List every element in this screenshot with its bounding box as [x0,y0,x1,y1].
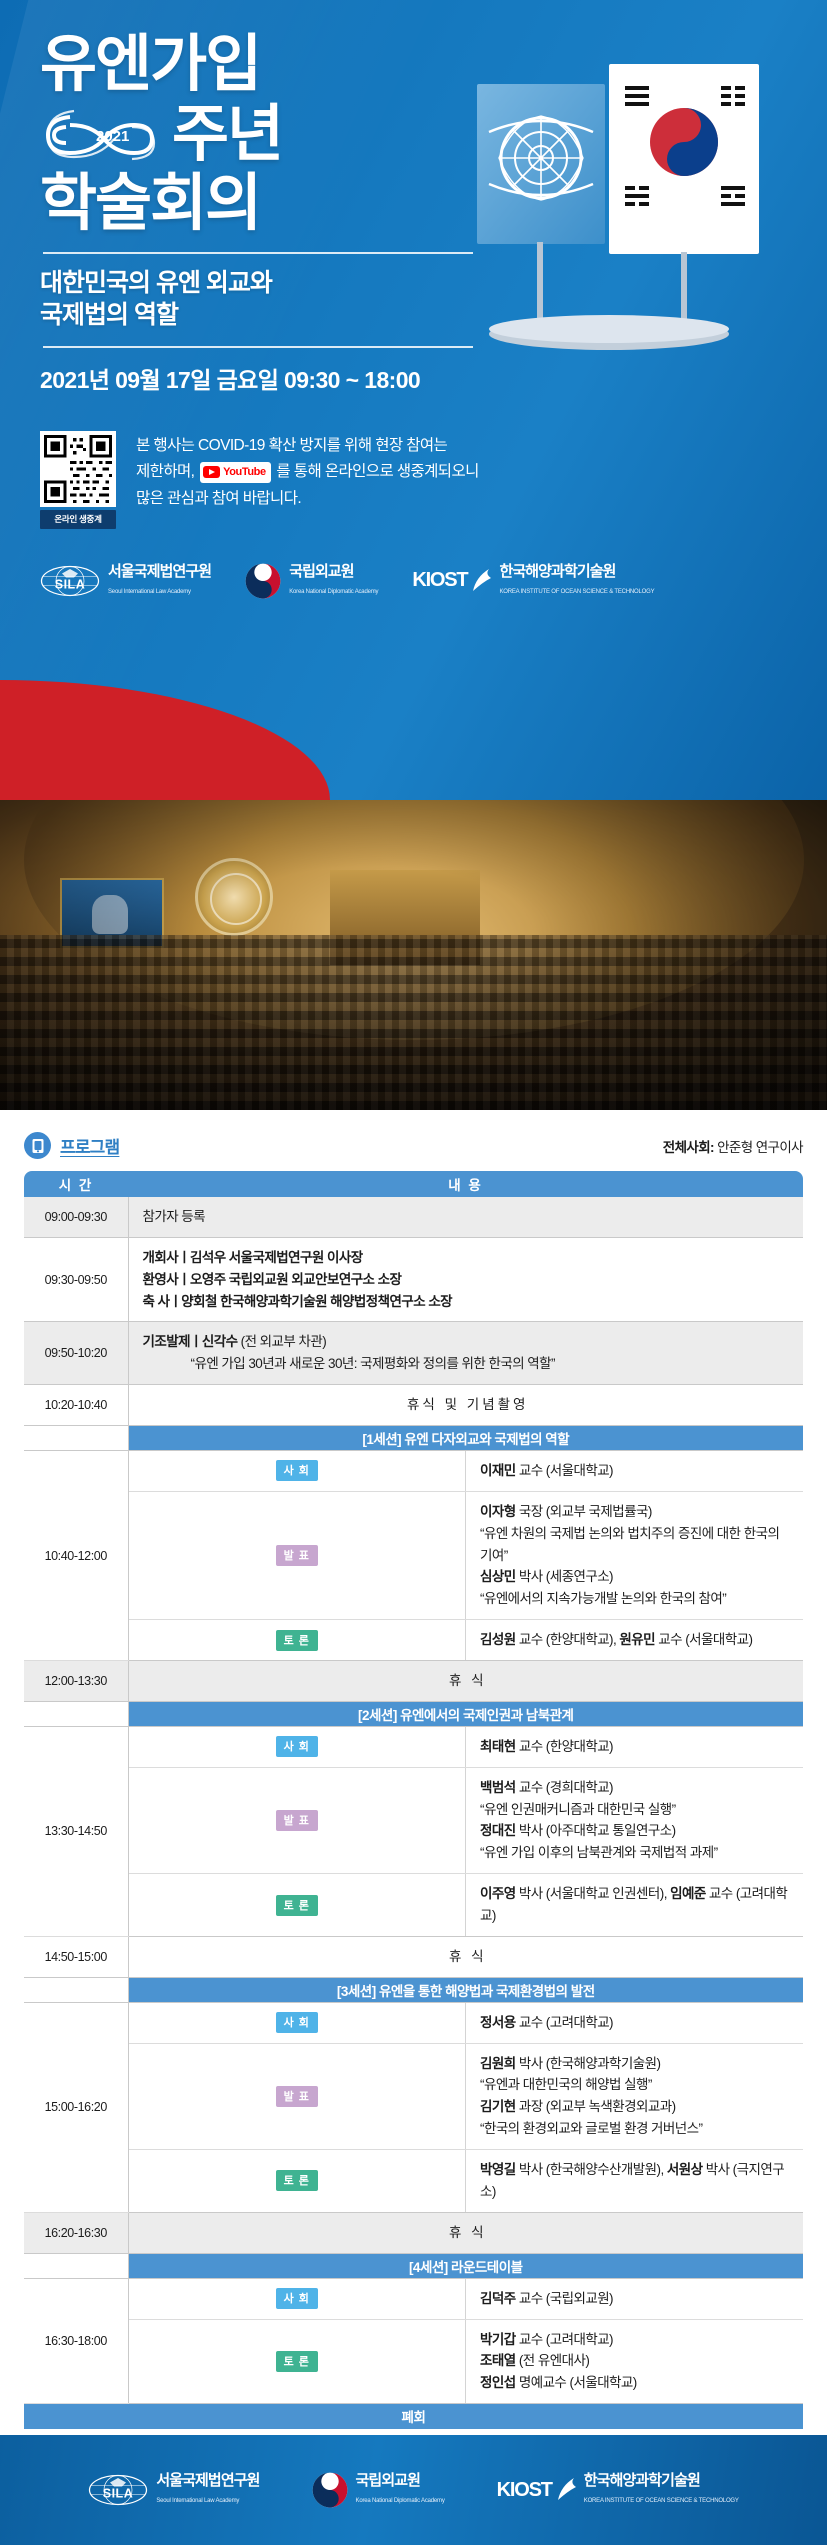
footer-org-knda-names: 국립외교원 Korea National Diplomatic Academy [356,2473,445,2507]
footer-org-knda: 국립외교원 Korea National Diplomatic Academy [312,2472,445,2508]
poster-subtitle-line-2: 국제법의 역할 [40,299,520,332]
participant-name: 조태열 [480,2353,516,2368]
session-detail-row: 16:30-18:00사 회김덕주 교수 (국립외교원) [24,2278,803,2319]
program-row: 09:30-09:50개회사ㅣ김석우 서울국제법연구원 이사장환영사ㅣ오영주 국… [24,1237,803,1322]
role-badge: 사 회 [276,1736,318,1757]
session-detail-row: 15:00-16:20사 회정서용 교수 (고려대학교) [24,2002,803,2043]
remark-line: 축 사ㅣ양회철 한국해양과학기술원 해양법정책연구소 소장 [143,1291,794,1313]
role-badge-cell: 토 론 [128,1620,466,1661]
participant-line: 정인섭 명예교수 (서울대학교) [480,2372,793,2394]
org-sila-name-en: Seoul International Law Academy [108,589,191,595]
notice-line-2-post: 를 통해 온라인으로 생중계되오니 [276,463,478,480]
row-time: 13:30-14:50 [24,1726,128,1936]
break-label: 휴 식 [128,2212,803,2253]
session-participants: 김성원 교수 (한양대학교), 원유민 교수 (서울대학교) [466,1620,804,1661]
keynote-speaker-title: (전 외교부 차관) [237,1334,326,1349]
footer-org-sila-names: 서울국제법연구원 Seoul International Law Academy [156,2473,259,2507]
remark-line: 환영사ㅣ오영주 국립외교원 외교안보연구소 소장 [143,1269,794,1291]
sila-globe-icon: SILA [88,2473,148,2507]
role-badge-cell: 사 회 [128,1726,466,1767]
participant-line: 최태현 교수 (한양대학교) [480,1736,793,1758]
remark-role: 환영사ㅣ오영주 국립외교원 외교안보연구소 소장 [143,1272,402,1287]
program-row: 09:50-10:20기조발제ㅣ신각수 (전 외교부 차관)“유엔 가입 30년… [24,1322,803,1385]
photo-vignette [0,800,827,1110]
participant-name: 박기갑 [480,2332,516,2347]
row-time: 10:20-10:40 [24,1385,128,1426]
participant-affiliation: 박사 (서울대학교 인권센터), [516,1886,670,1901]
keynote-title: “유엔 가입 30년과 새로운 30년: 국제평화와 정의를 위한 한국의 역할… [143,1353,794,1375]
hero-organizer-logos: SILA 서울국제법연구원 Seoul International Law Ac… [40,563,520,599]
youtube-icon[interactable]: YouTube [200,462,271,483]
row-time: 09:50-10:20 [24,1322,128,1385]
program-table: 시 간 내 용 09:00-09:30참가자 등록09:30-09:50개회사ㅣ… [24,1171,803,2429]
participant-line: 이주영 박사 (서울대학교 인권센터), 임예준 교수 (고려대학교) [480,1883,793,1927]
org-sila: SILA 서울국제법연구원 Seoul International Law Ac… [40,564,211,598]
session-header-row: [1세션] 유엔 다자외교와 국제법의 역할 [24,1426,803,1451]
participant-name: 이재민 [480,1463,516,1478]
role-badge: 사 회 [276,2288,318,2309]
session-participants: 김원희 박사 (한국해양과학기술원)“유엔과 대한민국의 해양법 실행”김기현 … [466,2043,804,2149]
remark-role: 개회사ㅣ김석우 서울국제법연구원 이사장 [143,1250,363,1265]
org-knda-name-en: Korea National Diplomatic Academy [289,589,378,595]
row-time: 16:30-18:00 [24,2278,128,2403]
session-header-spacer [24,1701,128,1726]
role-badge-cell: 발 표 [128,1491,466,1619]
closing-row: 폐회 [24,2404,803,2429]
session-detail-row: 발 표백범석 교수 (경희대학교)“유엔 인권매커니즘과 대한민국 실행”정대진… [24,1767,803,1873]
org-knda-names: 국립외교원 Korea National Diplomatic Academy [289,564,378,598]
org-sila-names: 서울국제법연구원 Seoul International Law Academy [108,564,211,598]
session-header-row: [3세션] 유엔을 통한 해양법과 국제환경법의 발전 [24,1977,803,2002]
participant-name: 김기현 [480,2099,516,2114]
participant-name: 박영길 [480,2162,516,2177]
participant-name: 심상민 [480,1569,516,1584]
participant-name: 원유민 [619,1632,655,1647]
org-kiost-names: 한국해양과학기술원 KOREA INSTITUTE OF OCEAN SCIEN… [499,564,654,598]
program-row: 12:00-13:30휴 식 [24,1661,803,1702]
participant-affiliation: 교수 (서울대학교) [516,1463,613,1478]
role-badge-cell: 사 회 [128,1451,466,1492]
participant-name: 이주영 [480,1886,516,1901]
participant-name: 백범석 [480,1780,516,1795]
notice-line-2: 제한하며, YouTube 를 통해 온라인으로 생중계되오니 [136,459,479,486]
row-content: 참가자 등록 [128,1197,803,1237]
session-header-title: [1세션] 유엔 다자외교와 국제법의 역할 [128,1426,803,1451]
role-badge-cell: 발 표 [128,1767,466,1873]
participant-name: 정서용 [480,2015,516,2030]
org-kiost-name-en: KOREA INSTITUTE OF OCEAN SCIENCE & TECHN… [499,589,654,595]
row-time: 09:30-09:50 [24,1237,128,1322]
conference-poster: 유엔가입 2021 주년 [0,0,827,2545]
youtube-play-icon [203,466,220,478]
poster-title-line-2: 주년 [172,104,282,165]
role-badge: 토 론 [276,1630,318,1651]
program-table-body: 09:00-09:30참가자 등록09:30-09:50개회사ㅣ김석우 서울국제… [24,1197,803,2429]
org-kiost-name-ko: 한국해양과학기술원 [499,563,615,580]
anniversary-year: 2021 [96,128,129,145]
role-badge: 발 표 [276,1545,318,1566]
session-header-spacer [24,2253,128,2278]
participant-affiliation: 과장 (외교부 녹색환경외교과) [516,2099,676,2114]
taegeuk-icon [245,563,281,599]
session-detail-row: 토 론박영길 박사 (한국해양수산개발원), 서원상 박사 (극지연구소) [24,2150,803,2213]
participant-name: 서원상 [667,2162,703,2177]
program-row: 10:20-10:40휴식 및 기념촬영 [24,1385,803,1426]
kiost-wordmark: KIOST [412,569,467,592]
session-participants: 이재민 교수 (서울대학교) [466,1451,804,1492]
notice-line-2-pre: 제한하며, [136,463,194,480]
row-time: 12:00-13:30 [24,1661,128,1702]
role-badge: 발 표 [276,1810,318,1831]
participant-line: 김덕주 교수 (국립외교원) [480,2288,793,2310]
poster-title-line-2-row: 2021 주년 [40,97,520,171]
org-kiost: KIOST 한국해양과학기술원 KOREA INSTITUTE OF OCEAN… [412,564,654,598]
participant-name: 이자형 [480,1504,516,1519]
presentation-title: “유엔 인권매커니즘과 대한민국 실행” [480,1799,793,1821]
session-detail-row: 10:40-12:00사 회이재민 교수 (서울대학교) [24,1451,803,1492]
overall-moderator-label: 전체사회 [663,1140,710,1155]
participant-name: 김원희 [480,2056,516,2071]
footer-org-kiost-names: 한국해양과학기술원 KOREA INSTITUTE OF OCEAN SCIEN… [584,2473,739,2507]
role-badge: 사 회 [276,1460,318,1481]
program-section: 프로그램 전체사회: 안준형 연구이사 시 간 내 용 09:00-09:30참… [0,1110,827,2460]
session-participants: 김덕주 교수 (국립외교원) [466,2278,804,2319]
break-label: 휴 식 [128,1936,803,1977]
session-header-row: [4세션] 라운드테이블 [24,2253,803,2278]
participant-name: 정인섭 [480,2375,516,2390]
footer-org-sila-name-ko: 서울국제법연구원 [156,2472,259,2489]
session-detail-row: 토 론이주영 박사 (서울대학교 인권센터), 임예준 교수 (고려대학교) [24,1874,803,1937]
session-participants: 백범석 교수 (경희대학교)“유엔 인권매커니즘과 대한민국 실행”정대진 박사… [466,1767,804,1873]
session-participants: 이자형 국장 (외교부 국제법률국)“유엔 차원의 국제법 논의와 법치주의 증… [466,1491,804,1619]
break-label: 휴 식 [128,1661,803,1702]
participant-line: 박영길 박사 (한국해양수산개발원), 서원상 박사 (극지연구소) [480,2159,793,2203]
session-participants: 이주영 박사 (서울대학교 인권센터), 임예준 교수 (고려대학교) [466,1874,804,1937]
participant-affiliation: 박사 (한국해양수산개발원), [516,2162,667,2177]
role-badge-cell: 사 회 [128,2002,466,2043]
role-badge: 사 회 [276,2012,318,2033]
participant-name: 임예준 [670,1886,706,1901]
org-sila-name-ko: 서울국제법연구원 [108,563,211,580]
participant-affiliation: 교수 (경희대학교) [516,1780,613,1795]
role-badge-cell: 발 표 [128,2043,466,2149]
session-detail-row: 토 론김성원 교수 (한양대학교), 원유민 교수 (서울대학교) [24,1620,803,1661]
presentation-title: “유엔과 대한민국의 해양법 실행” [480,2074,793,2096]
row-time: 10:40-12:00 [24,1451,128,1661]
session-header-spacer [24,1977,128,2002]
participant-affiliation: 국장 (외교부 국제법률국) [516,1504,652,1519]
participant-line: 이자형 국장 (외교부 국제법률국) [480,1501,793,1523]
event-datetime: 2021년 09월 17일 금요일 09:30 ~ 18:00 [40,361,520,395]
footer-org-kiost-name-en: KOREA INSTITUTE OF OCEAN SCIENCE & TECHN… [584,2498,739,2504]
participant-affiliation: (전 유엔대사) [516,2353,590,2368]
footer-org-knda-name-en: Korea National Diplomatic Academy [356,2498,445,2504]
participant-line: 정대진 박사 (아주대학교 통일연구소) [480,1820,793,1842]
col-header-time: 시 간 [24,1171,128,1197]
overall-moderator-value: 안준형 연구이사 [717,1140,803,1155]
presentation-title: “유엔 가입 이후의 남북관계와 국제법적 과제” [480,1842,793,1864]
program-row: 09:00-09:30참가자 등록 [24,1197,803,1237]
participant-line: 정서용 교수 (고려대학교) [480,2012,793,2034]
program-row: 14:50-15:00휴 식 [24,1936,803,1977]
role-badge-cell: 토 론 [128,1874,466,1937]
participant-line: 백범석 교수 (경희대학교) [480,1777,793,1799]
org-knda-name-ko: 국립외교원 [289,563,354,580]
presentation-title: “유엔 차원의 국제법 논의와 법치주의 증진에 대한 한국의 기여” [480,1523,793,1567]
footer-org-kiost-name-ko: 한국해양과학기술원 [584,2472,700,2489]
session-participants: 최태현 교수 (한양대학교) [466,1726,804,1767]
opening-remarks: 개회사ㅣ김석우 서울국제법연구원 이사장환영사ㅣ오영주 국립외교원 외교안보연구… [128,1237,803,1322]
thirty-anniversary-logo: 2021 [40,97,168,171]
participant-affiliation: 명예교수 (서울대학교) [516,2375,637,2390]
participant-affiliation: 교수 (고려대학교) [516,2015,613,2030]
row-time: 15:00-16:20 [24,2002,128,2212]
table-header-row: 시 간 내 용 [24,1171,803,1197]
footer-bar: SILA 서울국제법연구원 Seoul International Law Ac… [0,2435,827,2545]
kiost-wave-icon [469,568,491,594]
role-badge-cell: 사 회 [128,2278,466,2319]
session-participants: 박영길 박사 (한국해양수산개발원), 서원상 박사 (극지연구소) [466,2150,804,2213]
kiost-icon: KIOST [497,2477,576,2503]
footer-org-sila: SILA 서울국제법연구원 Seoul International Law Ac… [88,2473,259,2507]
taegeuk-icon [312,2472,348,2508]
notice-line-3: 많은 관심과 참여 바랍니다. [136,486,479,513]
role-badge-cell: 토 론 [128,2319,466,2404]
presentation-title: “한국의 환경외교와 글로벌 환경 거버넌스” [480,2118,793,2140]
break-label: 휴식 및 기념촬영 [128,1385,803,1426]
covid-notice-block: 온라인 생중계 본 행사는 COVID-19 확산 방지를 위해 현장 참여는 … [40,431,520,529]
hero-banner: 유엔가입 2021 주년 [0,0,827,800]
participant-name: 정대진 [480,1823,516,1838]
footer-org-knda-name-ko: 국립외교원 [356,2472,421,2489]
overall-moderator: 전체사회: 안준형 연구이사 [663,1136,803,1156]
role-badge: 토 론 [276,2170,318,2191]
un-assembly-hall-photo [0,800,827,1110]
row-time: 16:20-16:30 [24,2212,128,2253]
participant-name: 김성원 [480,1632,516,1647]
session-header-title: [4세션] 라운드테이블 [128,2253,803,2278]
org-knda: 국립외교원 Korea National Diplomatic Academy [245,563,378,599]
poster-title-line-3: 학술회의 [40,173,520,234]
participant-affiliation: 교수 (서울대학교) [655,1632,752,1647]
session-header-spacer [24,1426,128,1451]
qr-code-icon[interactable] [40,431,116,507]
role-badge: 토 론 [276,2351,318,2372]
youtube-label: YouTube [223,463,266,482]
session-detail-row: 토 론박기갑 교수 (고려대학교)조태열 (전 유엔대사)정인섭 명예교수 (서… [24,2319,803,2404]
participant-affiliation: 교수 (한양대학교), [516,1632,620,1647]
participant-line: 조태열 (전 유엔대사) [480,2350,793,2372]
role-badge: 토 론 [276,1895,318,1916]
participant-affiliation: 교수 (고려대학교) [516,2332,613,2347]
participant-affiliation: 교수 (국립외교원) [516,2291,613,2306]
session-header-row: [2세션] 유엔에서의 국제인권과 남북관계 [24,1701,803,1726]
program-header: 프로그램 전체사회: 안준형 연구이사 [24,1132,803,1159]
participant-line: 김기현 과장 (외교부 녹색환경외교과) [480,2096,793,2118]
participant-affiliation: 박사 (세종연구소) [516,1569,613,1584]
col-header-content: 내 용 [128,1171,803,1197]
svg-text:SILA: SILA [55,577,85,591]
session-header-title: [3세션] 유엔을 통한 해양법과 국제환경법의 발전 [128,1977,803,2002]
remark-line: 개회사ㅣ김석우 서울국제법연구원 이사장 [143,1247,794,1269]
covid-notice-text: 본 행사는 COVID-19 확산 방지를 위해 현장 참여는 제한하며, Yo… [136,431,479,513]
role-badge: 발 표 [276,2086,318,2107]
participant-affiliation: 박사 (아주대학교 통일연구소) [516,1823,676,1838]
program-row: 16:20-16:30휴 식 [24,2212,803,2253]
qr-code-block[interactable]: 온라인 생중계 [40,431,120,529]
kiost-wave-icon [554,2477,576,2503]
footer-org-sila-name-en: Seoul International Law Academy [156,2498,239,2504]
participant-line: 김성원 교수 (한양대학교), 원유민 교수 (서울대학교) [480,1629,793,1651]
title-divider [43,252,473,254]
program-title-group: 프로그램 [24,1132,119,1159]
kiost-icon: KIOST [412,568,491,594]
participant-line: 심상민 박사 (세종연구소) [480,1566,793,1588]
keynote-speaker-name: 기조발제ㅣ신각수 [143,1334,238,1349]
participant-name: 최태현 [480,1739,516,1754]
program-title: 프로그램 [60,1133,119,1158]
closing-label: 폐회 [24,2404,803,2429]
row-time: 14:50-15:00 [24,1936,128,1977]
row-time: 09:00-09:30 [24,1197,128,1237]
book-icon [24,1132,51,1159]
poster-title-line-1: 유엔가입 [40,34,520,95]
footer-kiost-wordmark: KIOST [497,2479,552,2502]
sila-globe-icon: SILA [40,564,100,598]
subtitle-divider [43,346,473,348]
participant-affiliation: 박사 (한국해양과학기술원) [516,2056,661,2071]
poster-subtitle-line-1: 대한민국의 유엔 외교와 [40,267,520,300]
session-participants: 정서용 교수 (고려대학교) [466,2002,804,2043]
participant-name: 김덕주 [480,2291,516,2306]
session-detail-row: 발 표이자형 국장 (외교부 국제법률국)“유엔 차원의 국제법 논의와 법치주… [24,1491,803,1619]
participant-affiliation: 교수 (한양대학교) [516,1739,613,1754]
presentation-title: “유엔에서의 지속가능개발 논의와 한국의 참여” [480,1588,793,1610]
keynote-speaker: 기조발제ㅣ신각수 (전 외교부 차관) [143,1331,794,1353]
qr-caption: 온라인 생중계 [40,510,116,529]
participant-line: 박기갑 교수 (고려대학교) [480,2329,793,2351]
notice-line-1: 본 행사는 COVID-19 확산 방지를 위해 현장 참여는 [136,433,479,460]
session-detail-row: 13:30-14:50사 회최태현 교수 (한양대학교) [24,1726,803,1767]
role-badge-cell: 토 론 [128,2150,466,2213]
session-detail-row: 발 표김원희 박사 (한국해양과학기술원)“유엔과 대한민국의 해양법 실행”김… [24,2043,803,2149]
session-header-title: [2세션] 유엔에서의 국제인권과 남북관계 [128,1701,803,1726]
keynote-block: 기조발제ㅣ신각수 (전 외교부 차관)“유엔 가입 30년과 새로운 30년: … [128,1322,803,1385]
footer-org-kiost: KIOST 한국해양과학기술원 KOREA INSTITUTE OF OCEAN… [497,2473,739,2507]
remark-role: 축 사ㅣ양회철 한국해양과학기술원 해양법정책연구소 소장 [143,1294,453,1309]
svg-text:SILA: SILA [103,2487,133,2501]
participant-line: 김원희 박사 (한국해양과학기술원) [480,2053,793,2075]
program-table-head: 시 간 내 용 [24,1171,803,1197]
participant-line: 이재민 교수 (서울대학교) [480,1460,793,1482]
session-participants: 박기갑 교수 (고려대학교)조태열 (전 유엔대사)정인섭 명예교수 (서울대학… [466,2319,804,2404]
